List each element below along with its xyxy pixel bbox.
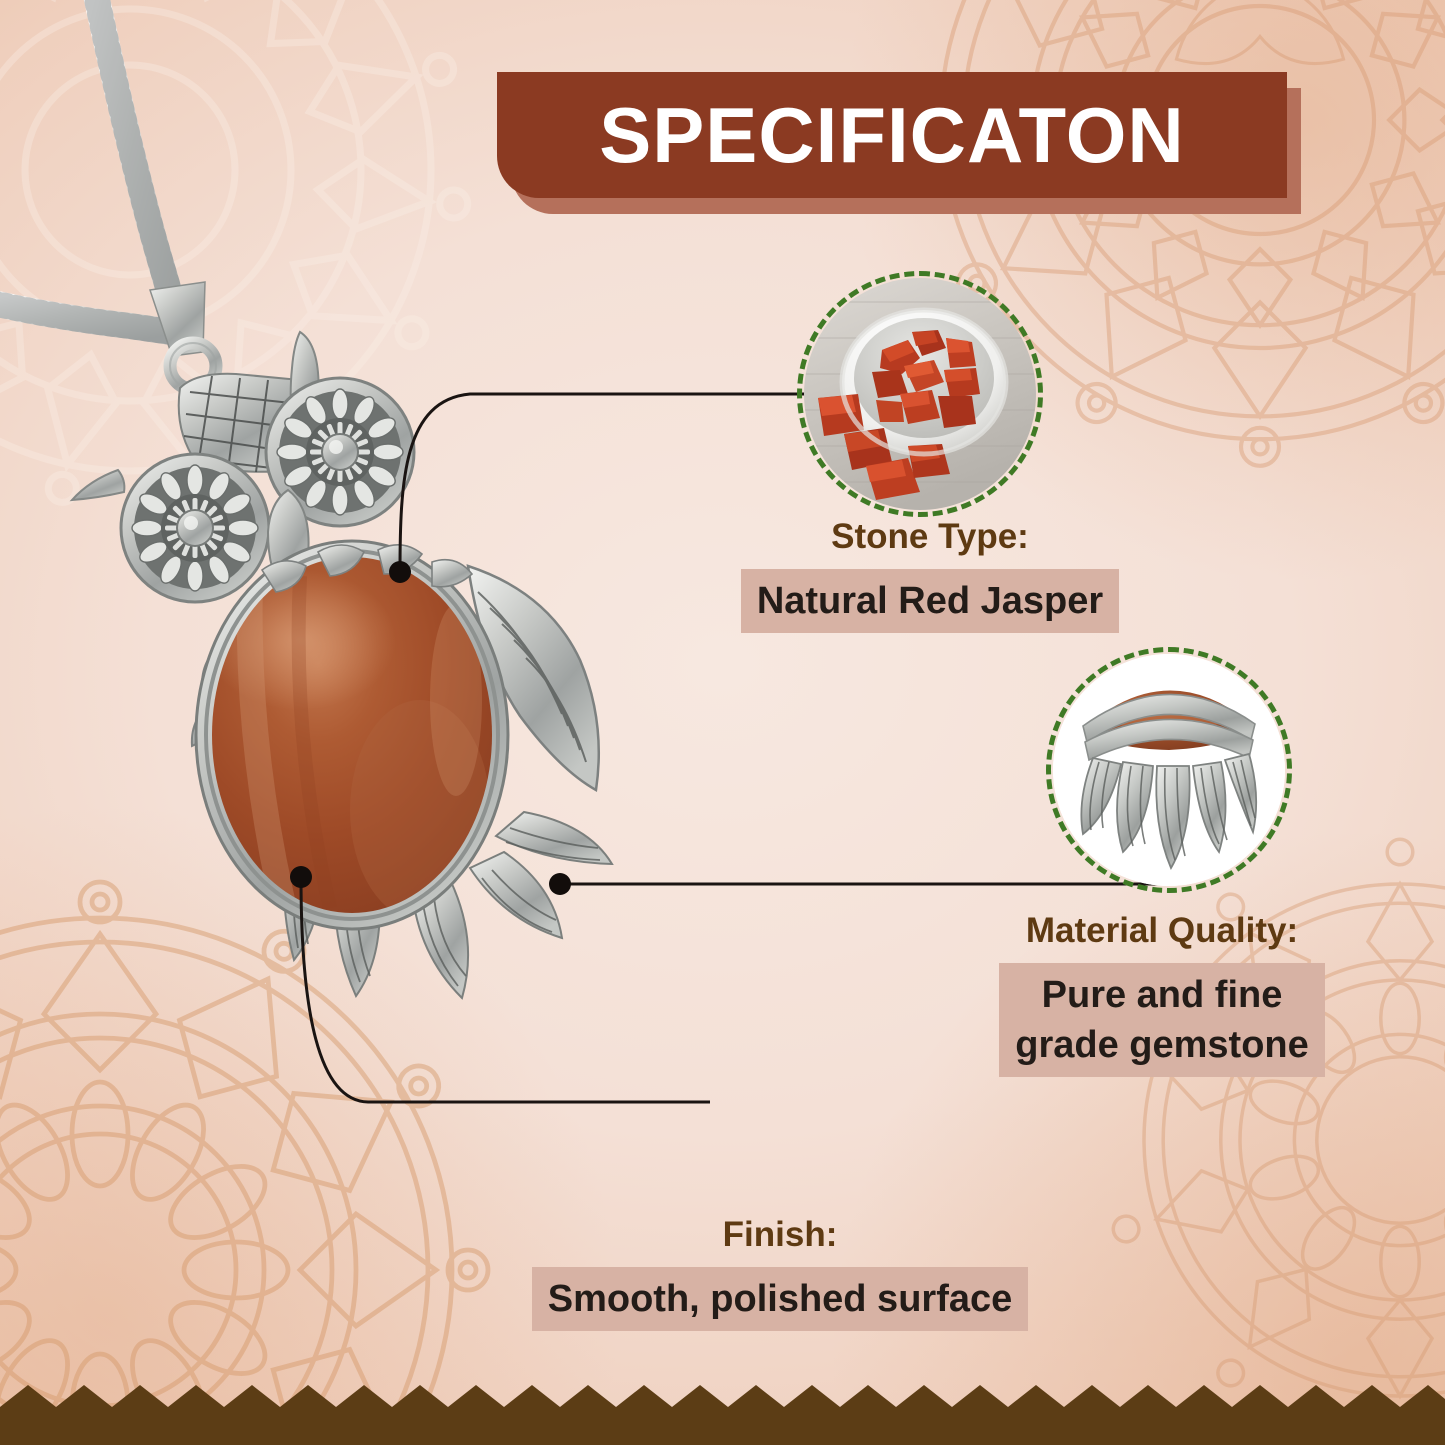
- spec-label-material-quality: Material Quality:: [952, 912, 1372, 951]
- spec-value-stone-type: Natural Red Jasper: [741, 569, 1119, 633]
- owl-ear-tuft-left: [72, 470, 124, 500]
- dashed-ring-stone-photo: [797, 271, 1043, 517]
- footer-zigzag-border: [0, 1383, 1445, 1445]
- owl-eye-left: [121, 454, 269, 602]
- specification-infographic: SPECIFICATON: [0, 0, 1445, 1445]
- dashed-ring-detail-photo: [1046, 647, 1292, 893]
- necklace-chain: [0, 0, 180, 333]
- owl-pendant-product-image: [0, 0, 700, 1060]
- spec-label-finish: Finish:: [480, 1216, 1080, 1255]
- spec-block-finish: Finish: Smooth, polished surface: [480, 1216, 1080, 1331]
- spec-value-finish: Smooth, polished surface: [532, 1267, 1029, 1331]
- pendant-tail-detail-photo: [1046, 647, 1292, 893]
- red-jasper-rough-stones-photo: [797, 271, 1043, 517]
- spec-block-material-quality: Material Quality: Pure and fine grade ge…: [952, 912, 1372, 1077]
- spec-block-stone-type: Stone Type: Natural Red Jasper: [700, 518, 1160, 633]
- owl-body-gemstone: [196, 541, 508, 929]
- spec-value-material-quality: Pure and fine grade gemstone: [999, 963, 1325, 1077]
- spec-label-stone-type: Stone Type:: [700, 518, 1160, 557]
